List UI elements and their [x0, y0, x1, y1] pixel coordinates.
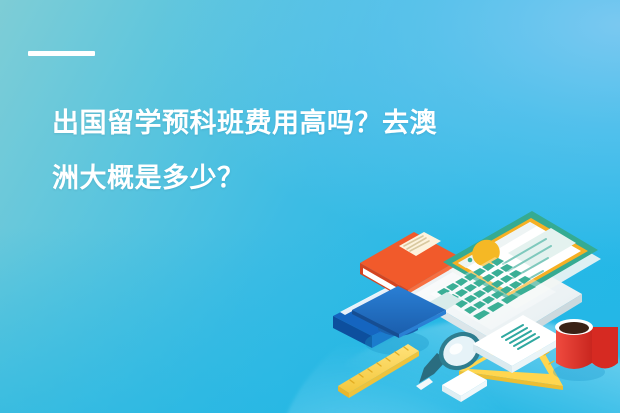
- banner-image: 出国留学预科班费用高吗？去澳洲大概是多少？: [0, 0, 620, 413]
- window-dot-1: [468, 258, 473, 263]
- study-desk-illustration: [0, 0, 620, 413]
- coffee-surface: [559, 322, 589, 334]
- coffee-mug: [553, 319, 618, 381]
